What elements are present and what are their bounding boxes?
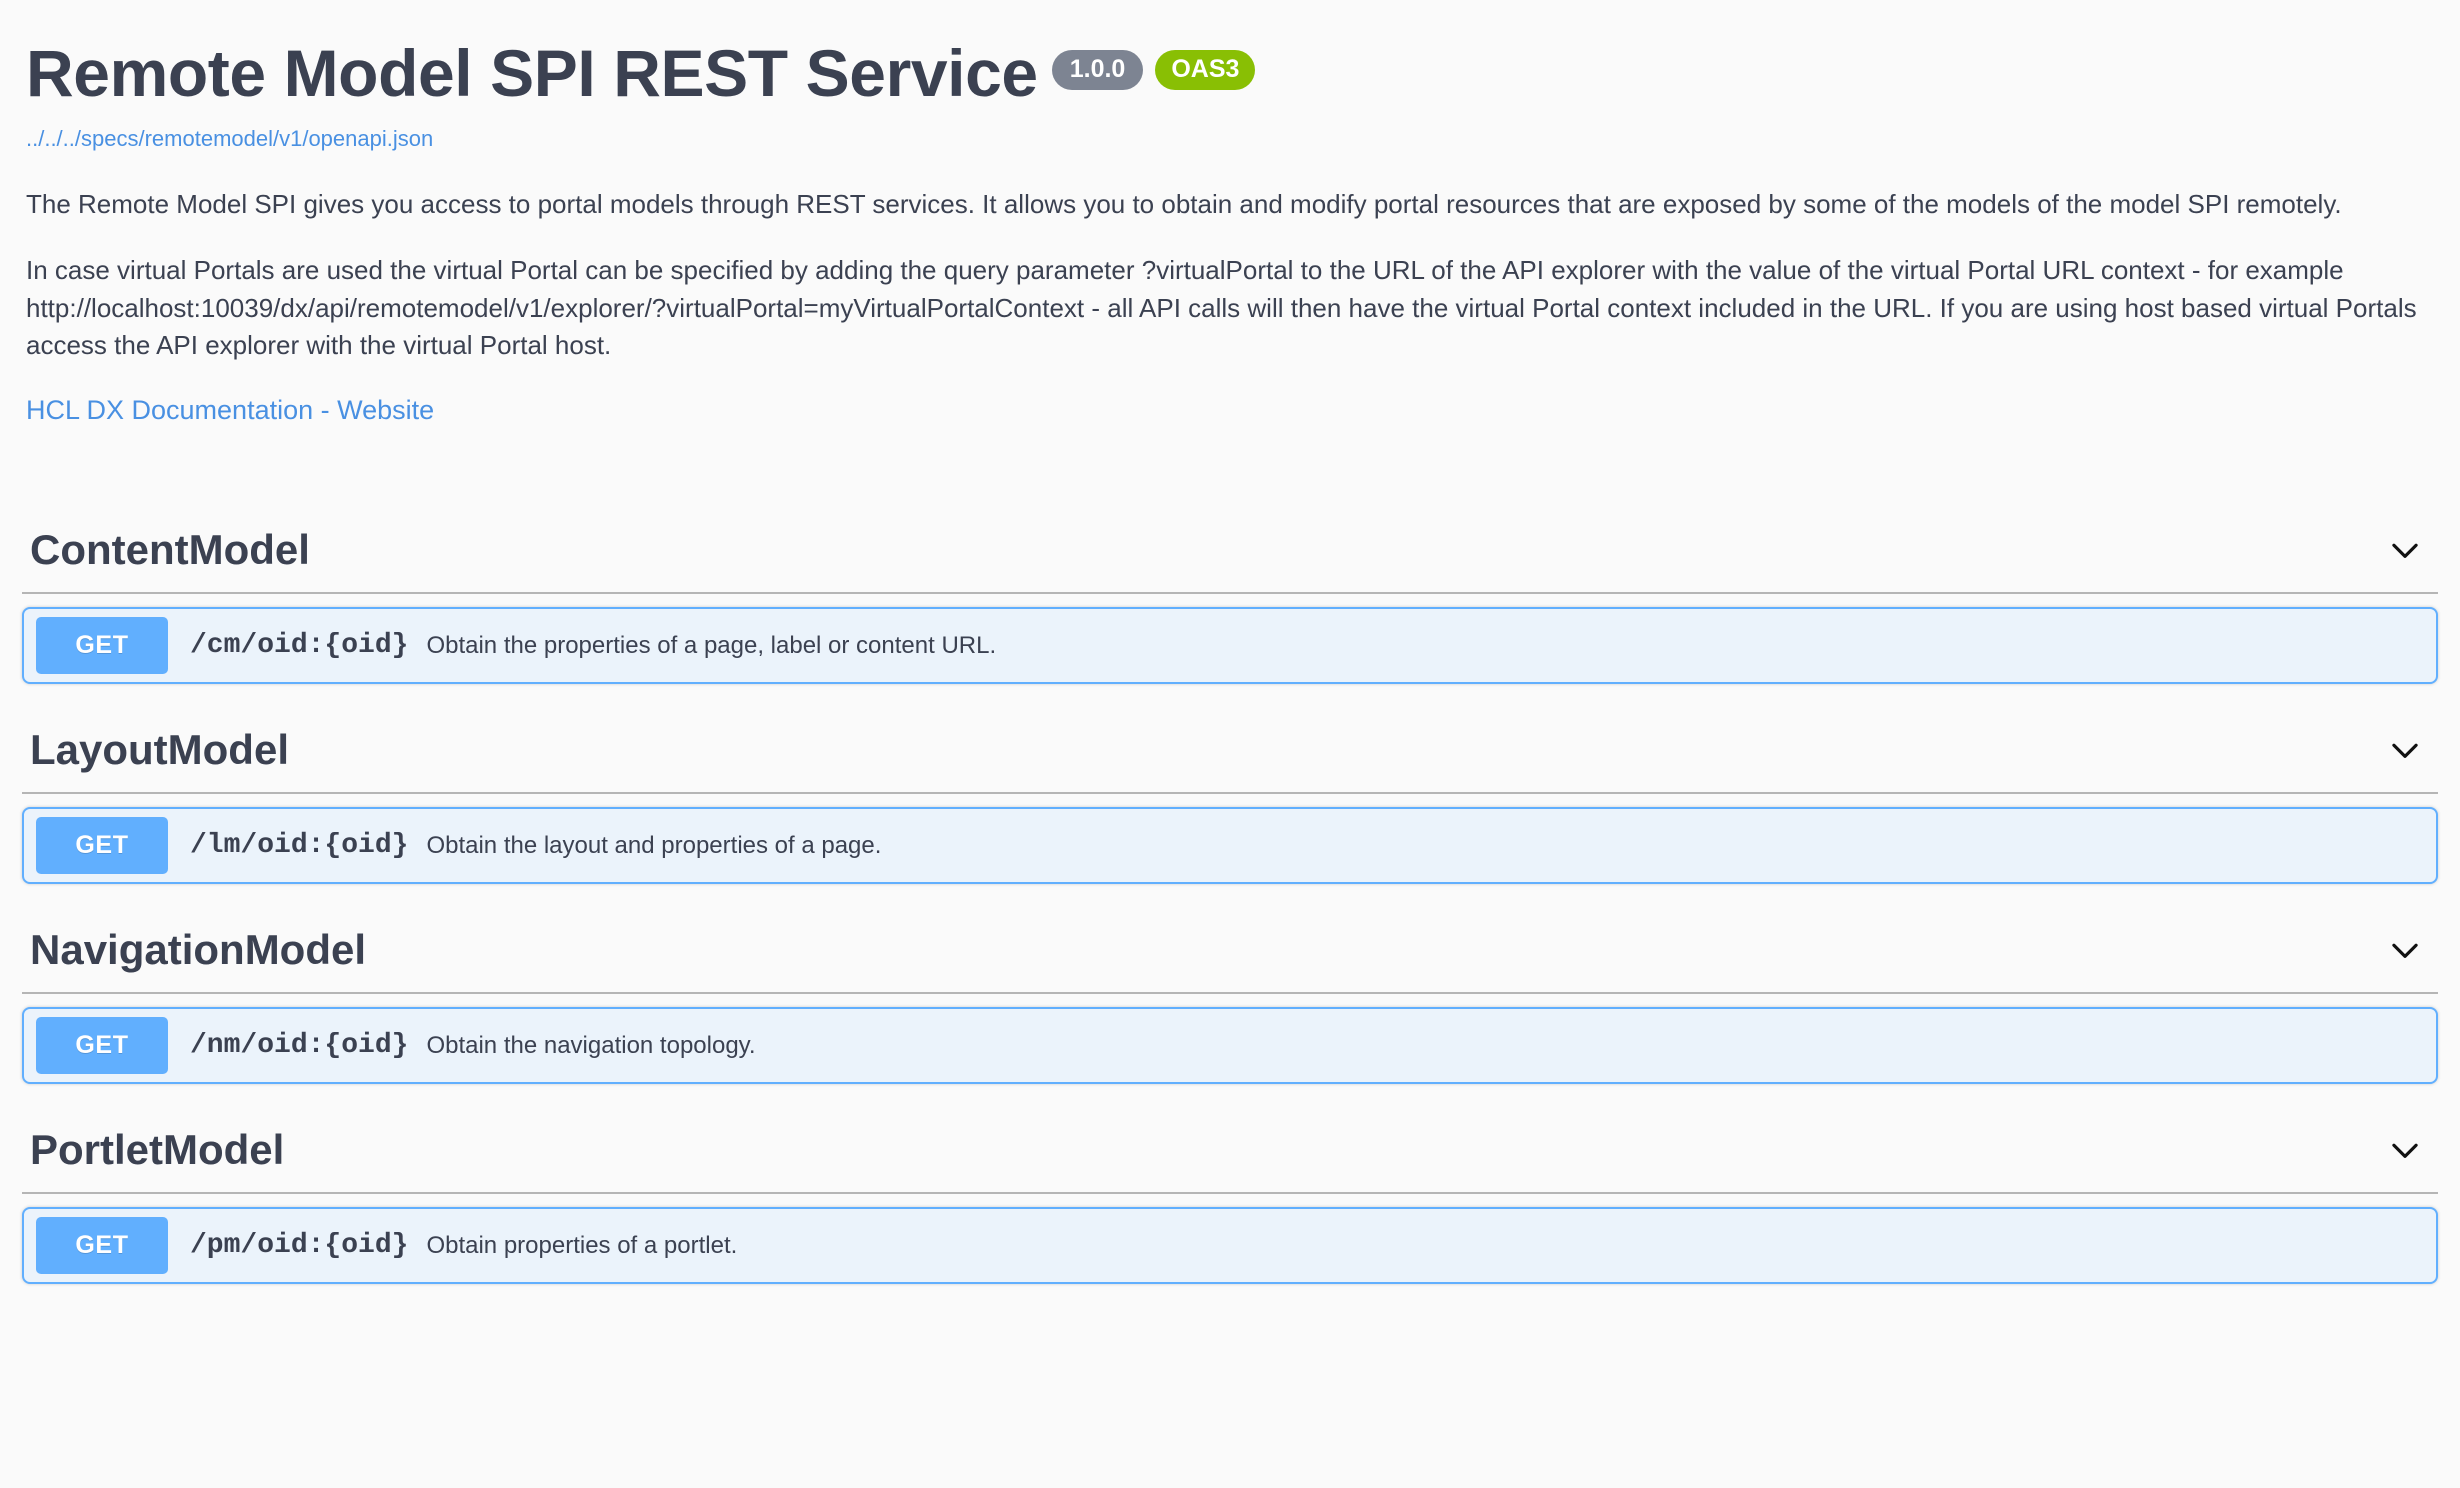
tag-header-layoutmodel[interactable]: LayoutModel (22, 708, 2438, 794)
page-title: Remote Model SPI REST Service (26, 38, 1038, 109)
operation-summary: Obtain the properties of a page, label o… (414, 632, 2436, 660)
operation-summary: Obtain properties of a portlet. (414, 1232, 2436, 1260)
tag-section-navigationmodel: NavigationModel GET /nm/oid:{oid} Obtain… (22, 908, 2438, 1084)
oas-version-badge: OAS3 (1155, 50, 1255, 90)
operation-row[interactable]: GET /nm/oid:{oid} Obtain the navigation … (22, 1007, 2438, 1084)
version-badge: 1.0.0 (1052, 50, 1144, 90)
api-info-block: Remote Model SPI REST Service 1.0.0 OAS3… (0, 0, 2460, 426)
operation-list: GET /cm/oid:{oid} Obtain the properties … (22, 607, 2438, 684)
operation-row[interactable]: GET /lm/oid:{oid} Obtain the layout and … (22, 807, 2438, 884)
tag-title: PortletModel (30, 1129, 284, 1171)
tag-title: NavigationModel (30, 929, 366, 971)
swagger-ui-page: Remote Model SPI REST Service 1.0.0 OAS3… (0, 0, 2460, 1488)
operation-path: /cm/oid:{oid} (180, 630, 414, 661)
operation-list: GET /nm/oid:{oid} Obtain the navigation … (22, 1007, 2438, 1084)
tag-section-contentmodel: ContentModel GET /cm/oid:{oid} Obtain th… (22, 508, 2438, 684)
http-method-badge: GET (36, 617, 168, 674)
operation-summary: Obtain the layout and properties of a pa… (414, 832, 2436, 860)
operations-container: ContentModel GET /cm/oid:{oid} Obtain th… (0, 508, 2460, 1284)
http-method-badge: GET (36, 817, 168, 874)
badge-group: 1.0.0 OAS3 (1052, 50, 1256, 90)
operation-path: /lm/oid:{oid} (180, 830, 414, 861)
operation-row[interactable]: GET /cm/oid:{oid} Obtain the properties … (22, 607, 2438, 684)
tag-title: ContentModel (30, 529, 310, 571)
api-title-row: Remote Model SPI REST Service 1.0.0 OAS3 (26, 38, 2434, 109)
http-method-badge: GET (36, 1017, 168, 1074)
operation-path: /pm/oid:{oid} (180, 1230, 414, 1261)
operation-path: /nm/oid:{oid} (180, 1030, 414, 1061)
operation-list: GET /lm/oid:{oid} Obtain the layout and … (22, 807, 2438, 884)
tag-header-navigationmodel[interactable]: NavigationModel (22, 908, 2438, 994)
api-description: The Remote Model SPI gives you access to… (26, 186, 2434, 365)
spec-url-link[interactable]: ../../../specs/remotemodel/v1/openapi.js… (26, 126, 2434, 152)
operation-row[interactable]: GET /pm/oid:{oid} Obtain properties of a… (22, 1207, 2438, 1284)
tag-header-contentmodel[interactable]: ContentModel (22, 508, 2438, 594)
chevron-down-icon[interactable] (2386, 1131, 2424, 1169)
chevron-down-icon[interactable] (2386, 731, 2424, 769)
documentation-website-link[interactable]: HCL DX Documentation - Website (26, 395, 434, 426)
tag-section-portletmodel: PortletModel GET /pm/oid:{oid} Obtain pr… (22, 1108, 2438, 1284)
http-method-badge: GET (36, 1217, 168, 1274)
operation-summary: Obtain the navigation topology. (414, 1032, 2436, 1060)
tag-header-portletmodel[interactable]: PortletModel (22, 1108, 2438, 1194)
description-paragraph-2: In case virtual Portals are used the vir… (26, 252, 2434, 365)
tag-title: LayoutModel (30, 729, 289, 771)
operation-list: GET /pm/oid:{oid} Obtain properties of a… (22, 1207, 2438, 1284)
chevron-down-icon[interactable] (2386, 531, 2424, 569)
description-paragraph-1: The Remote Model SPI gives you access to… (26, 186, 2434, 224)
tag-section-layoutmodel: LayoutModel GET /lm/oid:{oid} Obtain the… (22, 708, 2438, 884)
chevron-down-icon[interactable] (2386, 931, 2424, 969)
